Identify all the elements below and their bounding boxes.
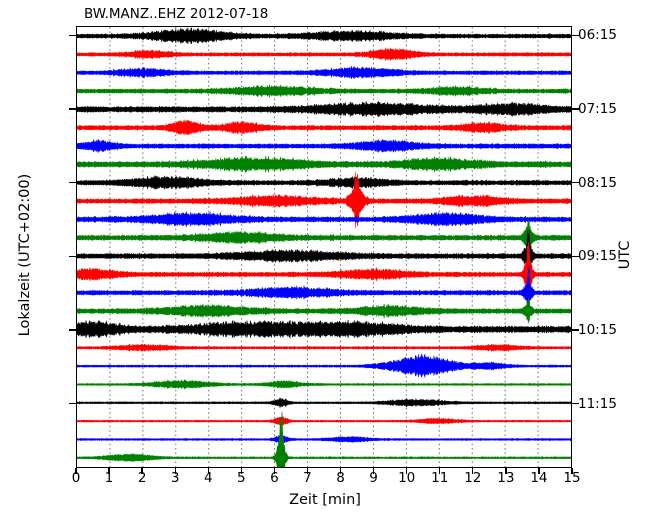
x-tickmark-6 [274, 468, 275, 474]
x-tickmark-11 [439, 468, 440, 474]
y-tickmark-right-4 [572, 329, 579, 330]
y-tick-label-right-1: 07:15 [578, 101, 617, 117]
y-tickmark-right-2 [572, 182, 579, 183]
x-tickmark-9 [373, 468, 374, 474]
trace-row [77, 28, 571, 44]
trace-row [77, 212, 571, 227]
y-axis-label-right: UTC [617, 195, 633, 315]
x-tickmark-8 [340, 468, 341, 474]
y-tickmark-left-0 [69, 35, 76, 36]
y-tickmark-left-2 [69, 182, 76, 183]
trace-row [77, 354, 571, 378]
y-tick-label-right-4: 10:15 [578, 322, 617, 338]
y-tickmark-left-1 [69, 108, 76, 109]
x-tickmark-15 [571, 468, 572, 474]
trace-row [77, 85, 571, 98]
y-tickmark-right-0 [572, 35, 579, 36]
trace-row [77, 220, 571, 255]
y-axis-label-left: Lokalzeit (UTC+02:00) [17, 145, 33, 365]
plot-area [76, 26, 572, 468]
trace-row [77, 48, 571, 61]
x-tickmark-10 [406, 468, 407, 474]
dayplot-figure: BW.MANZ..EHZ 2012-07-18 08:0009:0010:001… [0, 0, 650, 520]
y-tick-label-right-0: 06:15 [578, 27, 617, 43]
y-tickmark-right-1 [572, 108, 579, 109]
trace-row [77, 139, 571, 153]
x-tickmark-3 [175, 468, 176, 474]
trace-row [77, 320, 571, 338]
y-tickmark-left-4 [69, 329, 76, 330]
trace-row [77, 156, 571, 173]
y-tick-label-right-3: 09:15 [578, 248, 617, 264]
y-tickmark-left-5 [69, 403, 76, 404]
trace-row [77, 435, 571, 444]
x-tickmark-0 [75, 468, 76, 474]
page-title: BW.MANZ..EHZ 2012-07-18 [84, 6, 268, 22]
trace-row [77, 416, 571, 425]
y-tickmark-right-3 [572, 256, 579, 257]
x-tickmark-2 [141, 468, 142, 474]
trace-row [77, 379, 571, 389]
y-tick-label-right-2: 08:15 [578, 175, 617, 191]
x-tickmark-1 [108, 468, 109, 474]
y-tickmark-left-3 [69, 256, 76, 257]
y-tickmark-right-5 [572, 403, 579, 404]
trace-row [77, 120, 571, 135]
trace-row [77, 66, 571, 79]
x-tickmark-12 [472, 468, 473, 474]
x-tickmark-7 [307, 468, 308, 474]
trace-row [77, 101, 571, 117]
x-tickmark-4 [208, 468, 209, 474]
x-tickmark-14 [538, 468, 539, 474]
y-tick-label-right-5: 11:15 [578, 396, 617, 412]
trace-row [77, 298, 571, 323]
x-tickmark-5 [241, 468, 242, 474]
trace-row [77, 176, 571, 190]
x-axis-label: Zeit [min] [0, 492, 650, 508]
trace-row [77, 398, 571, 408]
seismogram-traces [77, 27, 571, 467]
trace-row [77, 344, 571, 352]
x-tickmark-13 [505, 468, 506, 474]
